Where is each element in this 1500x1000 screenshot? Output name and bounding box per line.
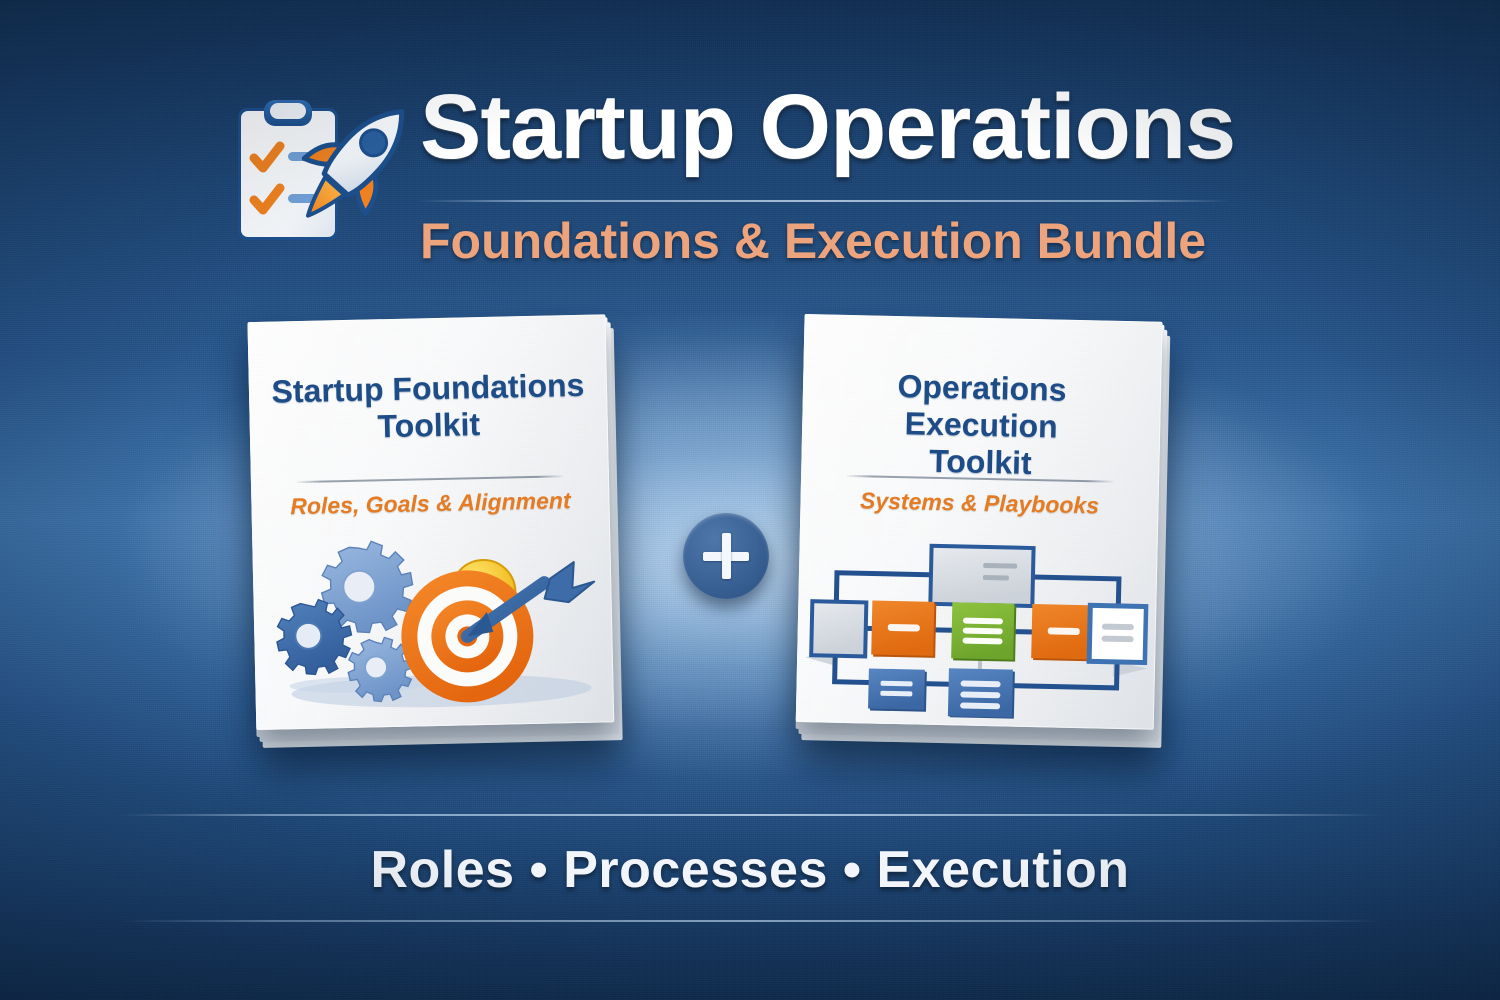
product-title-line2: Toolkit (377, 406, 480, 444)
cover-divider (295, 475, 565, 483)
product-card-foundations[interactable]: Startup Foundations Toolkit Roles, Goals… (247, 314, 628, 742)
product-title: Startup Foundations Toolkit (265, 367, 593, 448)
footer-divider-bottom (120, 920, 1380, 922)
gears-target-lightbulb-illustration (260, 529, 606, 721)
plus-icon (683, 513, 769, 599)
footer-divider-top (120, 814, 1380, 816)
header-subtitle: Foundations & Execution Bundle (420, 212, 1220, 270)
header-divider (418, 200, 1230, 202)
product-subtitle: Systems & Playbooks (816, 486, 1143, 520)
page-title: Startup Operations (420, 78, 1220, 177)
flowchart-diagram-illustration (804, 529, 1150, 721)
plus-bar-vertical (722, 533, 731, 579)
product-title: Operations Execution Toolkit (817, 366, 1145, 484)
product-card-operations[interactable]: Operations Execution Toolkit Systems & P… (795, 314, 1176, 742)
product-title-line1: Operations Execution (897, 368, 1067, 445)
product-title-line2: Toolkit (929, 443, 1032, 481)
product-subtitle: Roles, Goals & Alignment (267, 487, 594, 521)
title-block: Startup Operations (420, 78, 1220, 177)
clipboard-rocket-icon (228, 86, 406, 266)
promo-graphic: Startup Operations Foundations & Executi… (0, 0, 1500, 1000)
footer-tagline: Roles • Processes • Execution (0, 840, 1500, 900)
book-cover: Operations Execution Toolkit Systems & P… (796, 314, 1163, 730)
book-cover: Startup Foundations Toolkit Roles, Goals… (247, 314, 614, 730)
product-title-line1: Startup Foundations (271, 367, 585, 410)
header: Startup Operations Foundations & Executi… (0, 78, 1500, 278)
